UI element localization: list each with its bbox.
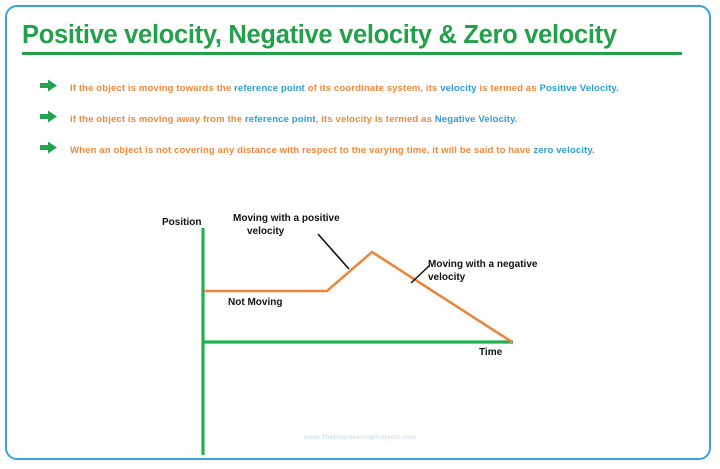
text-segment: If the object is moving towards the — [70, 83, 234, 94]
list-item-text: if the object is moving away from the re… — [70, 114, 517, 125]
text-segment: if the object is moving away from the — [70, 114, 245, 125]
annotation-line: velocity — [233, 225, 340, 238]
annotation-not-moving: Not Moving — [228, 296, 282, 309]
footer-watermark: www.TheEngineeringProjects.com — [0, 434, 720, 441]
title-underline-rule — [22, 52, 682, 55]
list-item-text: If the object is moving towards the refe… — [70, 83, 619, 94]
text-segment-highlight: velocity — [440, 83, 477, 94]
page-title-block: Positive velocity, Negative velocity & Z… — [22, 22, 688, 55]
annotation-negative-velocity: Moving with a negative velocity — [428, 258, 537, 284]
text-segment-highlight: zero velocity. — [533, 145, 594, 156]
text-segment: When an object is not covering any dista… — [70, 145, 533, 156]
text-segment: , its velocity is termed as — [316, 114, 435, 125]
arrow-right-icon — [40, 79, 58, 92]
y-axis-label: Position — [162, 216, 201, 229]
list-item: if the object is moving away from the re… — [40, 109, 690, 130]
text-segment-highlight: reference point — [245, 114, 316, 125]
arrow-right-icon — [40, 110, 58, 123]
text-segment-highlight: reference point — [234, 83, 305, 94]
text-segment-highlight: Positive Velocity. — [539, 83, 618, 94]
annotation-line: Moving with a negative — [428, 258, 537, 271]
list-item-text: When an object is not covering any dista… — [70, 145, 595, 156]
annotation-line: Moving with a positive — [233, 212, 340, 225]
annotation-line: velocity — [428, 271, 537, 284]
slide-canvas: Positive velocity, Negative velocity & Z… — [0, 0, 720, 469]
bullet-list: If the object is moving towards the refe… — [40, 78, 690, 171]
list-item: When an object is not covering any dista… — [40, 140, 690, 161]
x-axis-label: Time — [479, 346, 502, 359]
text-segment: is termed as — [477, 83, 540, 94]
text-segment: of its coordinate system, its — [305, 83, 440, 94]
list-item: If the object is moving towards the refe… — [40, 78, 690, 99]
page-title: Positive velocity, Negative velocity & Z… — [22, 22, 688, 49]
slide-border-frame — [5, 5, 711, 460]
text-segment-highlight: Negative Velocity. — [435, 114, 518, 125]
annotation-positive-velocity: Moving with a positive velocity — [233, 212, 340, 238]
arrow-right-icon — [40, 141, 58, 154]
